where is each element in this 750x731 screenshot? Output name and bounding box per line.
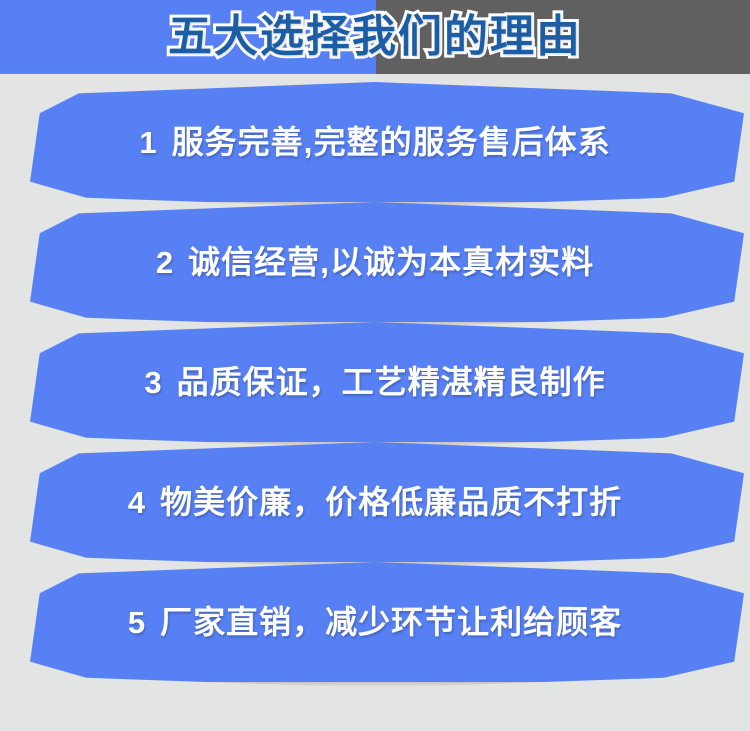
banner-label-text: 品质保证，工艺精湛精良制作 [177,366,606,398]
reason-banner[interactable]: 2 诚信经营,以诚为本真材实料 [0,202,750,322]
banner-index-number: 5 [128,607,146,638]
banner-label-text: 厂家直销，减少环节让利给顾客 [160,606,622,638]
banner-index-number: 1 [139,127,157,158]
banner-index-number: 3 [144,367,162,398]
banner-content: 1 服务完善,完整的服务售后体系 [0,82,750,202]
banner-content: 5 厂家直销，减少环节让利给顾客 [0,562,750,682]
banner-content: 4 物美价廉，价格低廉品质不打折 [0,442,750,562]
page-title: 五大选择我们的理由 [0,0,750,74]
reason-banner[interactable]: 4 物美价廉，价格低廉品质不打折 [0,442,750,562]
promo-page: 五大选择我们的理由 1 服务完善,完整的服务售后体系 2 诚信经营,以诚为本真材… [0,0,750,731]
banner-content: 2 诚信经营,以诚为本真材实料 [0,202,750,322]
banner-label-text: 服务完善,完整的服务售后体系 [172,126,611,158]
header-divider [0,74,750,82]
banner-index-number: 2 [156,247,174,278]
reasons-list: 1 服务完善,完整的服务售后体系 2 诚信经营,以诚为本真材实料 3 品质保证，… [0,82,750,682]
banner-label-text: 物美价廉，价格低廉品质不打折 [160,486,622,518]
reason-banner[interactable]: 3 品质保证，工艺精湛精良制作 [0,322,750,442]
banner-label-text: 诚信经营,以诚为本真材实料 [188,246,594,278]
reason-banner[interactable]: 5 厂家直销，减少环节让利给顾客 [0,562,750,682]
reason-banner[interactable]: 1 服务完善,完整的服务售后体系 [0,82,750,202]
banner-index-number: 4 [128,487,146,518]
banner-content: 3 品质保证，工艺精湛精良制作 [0,322,750,442]
